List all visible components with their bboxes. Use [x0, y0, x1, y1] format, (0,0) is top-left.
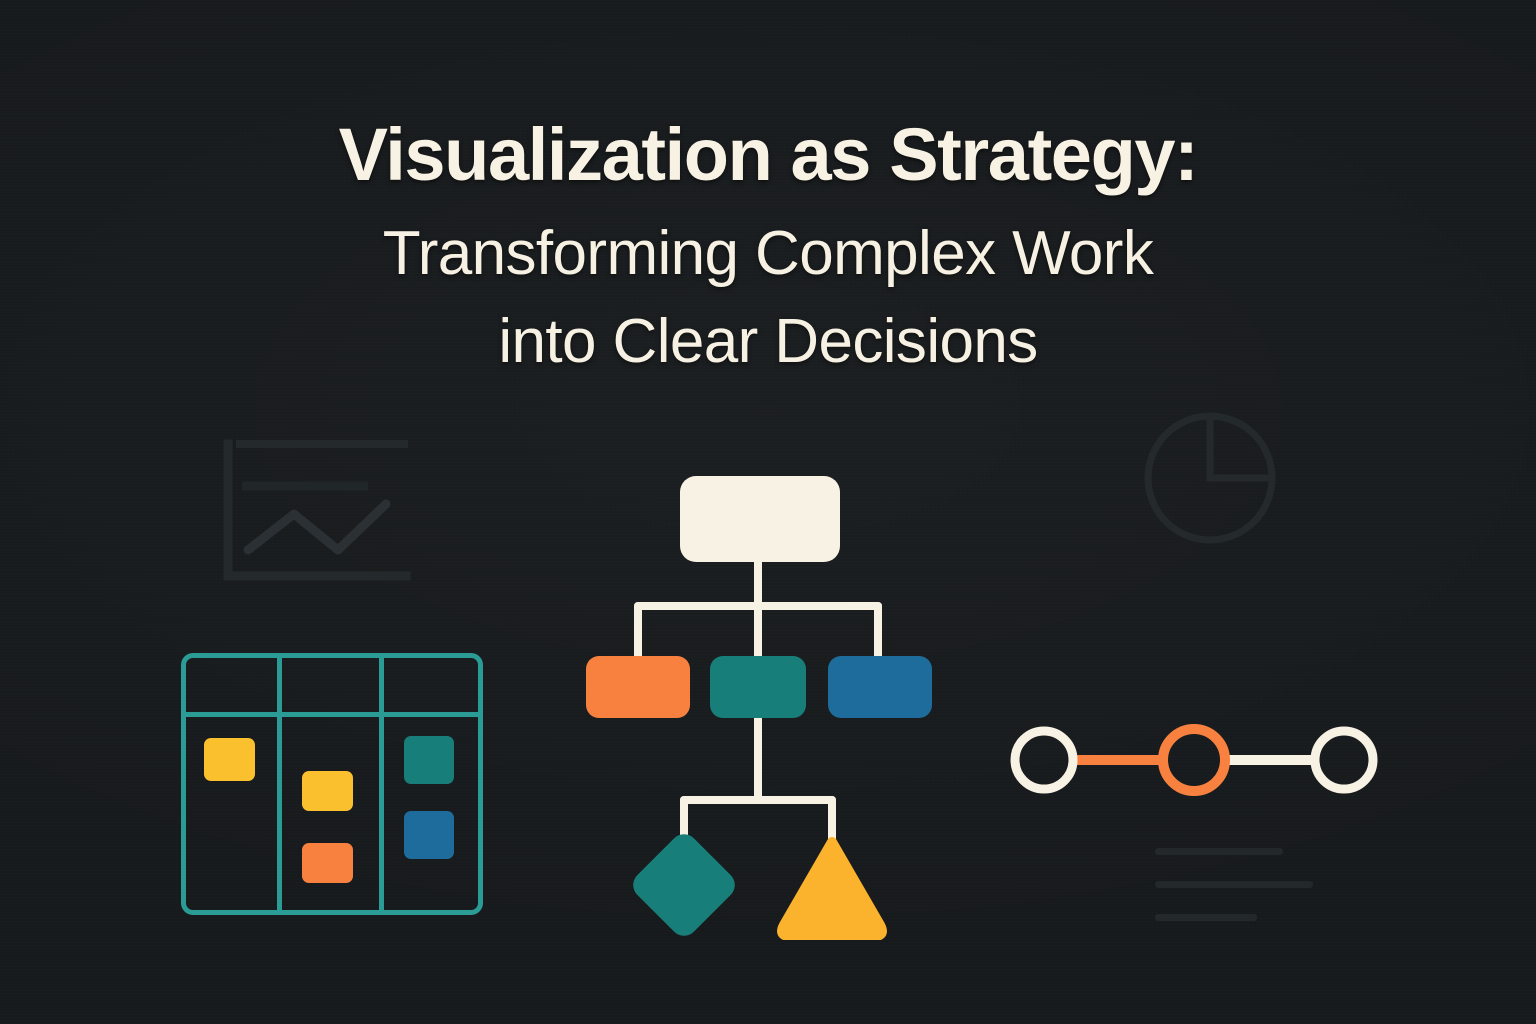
pie-chart-icon — [1140, 408, 1280, 553]
kanban-card — [302, 771, 353, 811]
chain-node-3 — [1315, 731, 1373, 789]
kanban-card — [204, 738, 255, 781]
kanban-column-divider-2 — [379, 653, 384, 915]
node-link-chain — [1000, 715, 1390, 805]
flowchart-node-leaf-diamond — [627, 828, 740, 940]
subtitle-line-2: into Clear Decisions — [0, 298, 1536, 386]
kanban-board-icon — [181, 653, 483, 915]
flowchart-node-leaf-triangle — [782, 842, 882, 936]
text-lines-placeholder — [1155, 848, 1313, 947]
flowchart-node-child2 — [710, 656, 806, 718]
chain-node-2 — [1163, 729, 1225, 791]
kanban-column-divider-1 — [277, 653, 282, 915]
title-block: Visualization as Strategy: Transforming … — [0, 118, 1536, 386]
kanban-card — [404, 736, 454, 784]
kanban-card — [404, 811, 454, 859]
kanban-card — [302, 843, 353, 883]
page-title: Visualization as Strategy: — [0, 118, 1536, 192]
page-subtitle: Transforming Complex Work into Clear Dec… — [0, 210, 1536, 386]
flowchart-node-child3 — [828, 656, 932, 718]
flowchart-node-root — [680, 476, 840, 562]
subtitle-line-1: Transforming Complex Work — [0, 210, 1536, 298]
placeholder-line-3 — [1155, 914, 1257, 921]
placeholder-line-1 — [1155, 848, 1283, 855]
placeholder-line-2 — [1155, 881, 1313, 888]
slide-canvas: Visualization as Strategy: Transforming … — [0, 0, 1536, 1024]
flowchart-node-child1 — [586, 656, 690, 718]
line-chart-icon — [218, 438, 414, 591]
org-flowchart — [580, 470, 940, 940]
kanban-header-divider — [181, 712, 483, 717]
chain-node-1 — [1015, 731, 1073, 789]
